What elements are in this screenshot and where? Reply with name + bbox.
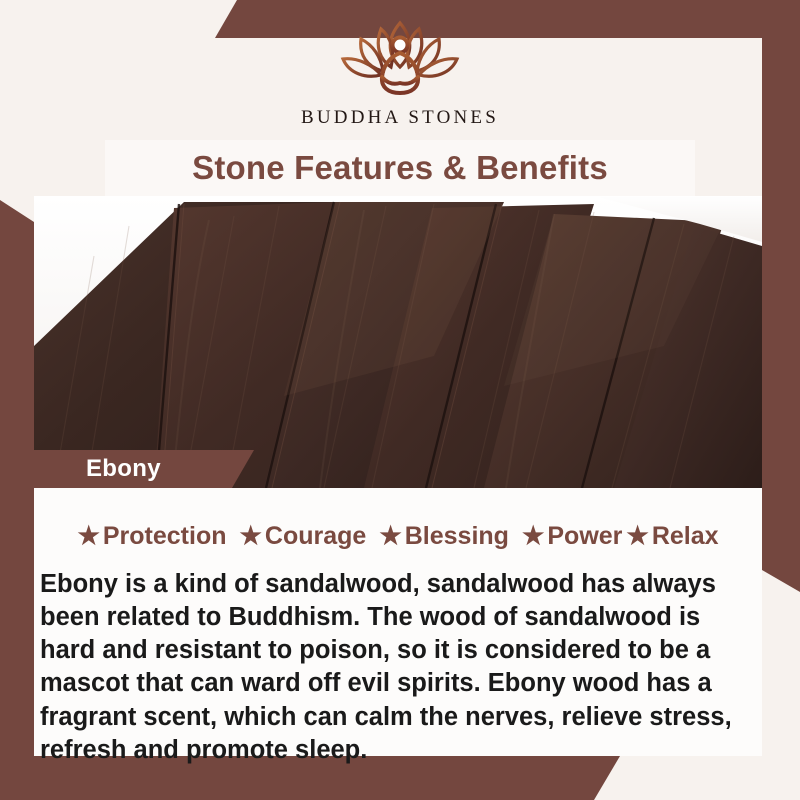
star-icon: ★ [379, 524, 401, 549]
star-icon: ★ [240, 524, 262, 549]
stone-description: Ebony is a kind of sandalwood, sandalwoo… [40, 568, 752, 767]
feature-protection: ★ Protection [77, 522, 226, 551]
stone-name: Ebony [86, 455, 161, 483]
page-title: Stone Features & Benefits [192, 149, 608, 187]
ebony-wood-planks-photo [34, 196, 762, 488]
star-icon: ★ [626, 524, 648, 549]
feature-label: Courage [265, 522, 366, 551]
frame-left-bar [0, 200, 34, 800]
feature-list: ★ Protection ★ Courage ★ Blessing ★ Powe… [34, 522, 762, 551]
stone-features-infographic: BUDDHA STONES Stone Features & Benefits [0, 0, 800, 800]
stone-name-banner: Ebony [34, 450, 254, 488]
feature-power: ★ Power [522, 522, 622, 551]
feature-label: Relax [652, 522, 719, 551]
feature-label: Blessing [405, 522, 509, 551]
star-icon: ★ [522, 524, 544, 549]
feature-blessing: ★ Blessing [379, 522, 509, 551]
star-icon: ★ [77, 524, 99, 549]
lotus-meditation-figure-icon [325, 11, 475, 103]
feature-label: Protection [103, 522, 227, 551]
feature-courage: ★ Courage [240, 522, 367, 551]
brand-name: BUDDHA STONES [301, 107, 499, 129]
feature-label: Power [547, 522, 622, 551]
title-banner: Stone Features & Benefits [105, 140, 695, 196]
brand-header: BUDDHA STONES [0, 0, 800, 140]
feature-relax: ★ Relax [626, 522, 718, 551]
